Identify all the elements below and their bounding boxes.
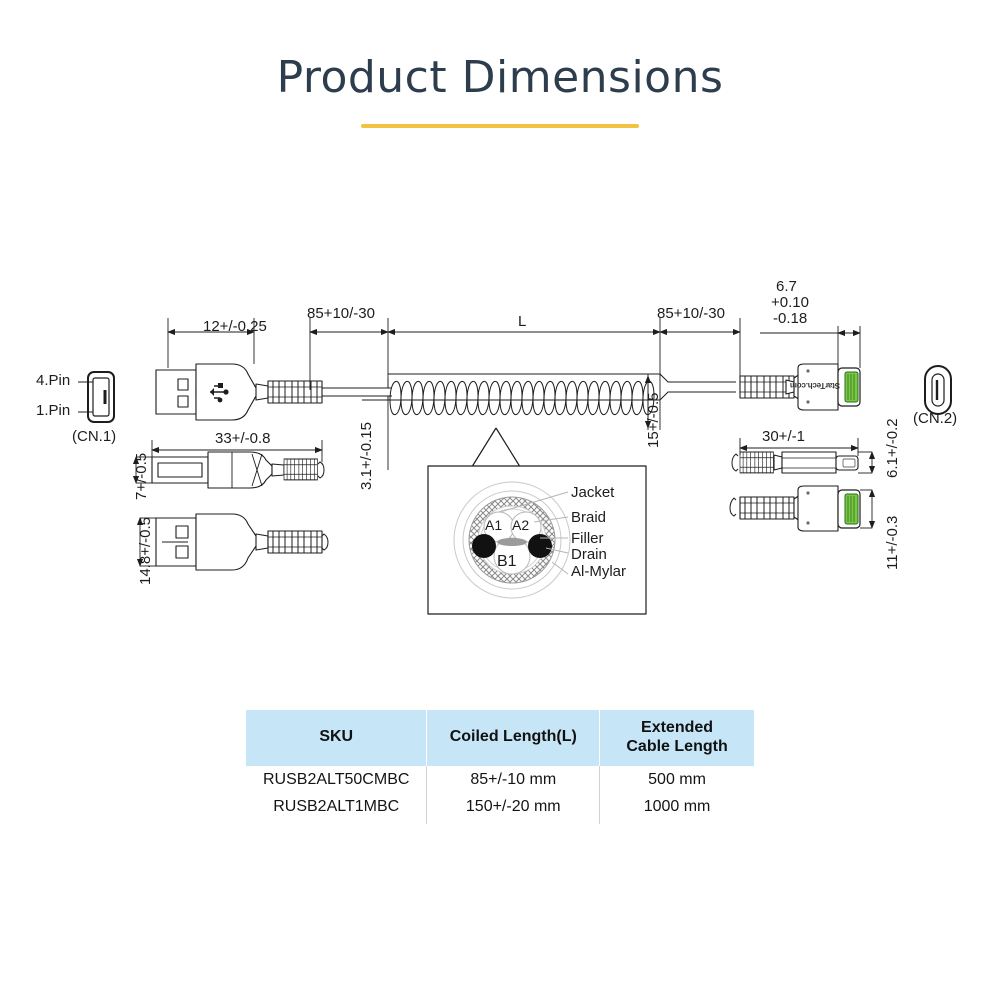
table-header-extended-length: Extended Cable Length [600, 710, 754, 766]
cn2-port-face [925, 366, 951, 414]
table-header-row: SKU Coiled Length(L) Extended Cable Leng… [246, 710, 754, 766]
table-row: RUSB2ALT1MBC 150+/-20 mm 1000 mm [246, 793, 754, 824]
table-header-sku: SKU [246, 710, 427, 766]
label-cn2: (CN.2) [913, 410, 957, 427]
dim-usb-a-top-width: 14.8+/-0.5 [137, 517, 154, 585]
usb-c-side-view [732, 452, 858, 473]
title-underline-rule [361, 124, 639, 128]
dim-usb-a-side-height: 7+/-0.5 [133, 453, 150, 500]
dim-coiled-length-l: L [518, 313, 526, 330]
usb-a-side-view [152, 452, 324, 488]
cs-label-al-mylar: Al-Mylar [571, 563, 626, 580]
dim-coil-diameter: 15+/-0.5 [645, 393, 662, 448]
cell-sku: RUSB2ALT1MBC [246, 793, 427, 824]
startech-brand-label: StarTech.com [800, 381, 840, 390]
label-pin-1: 1.Pin [36, 402, 70, 419]
cell-sku: RUSB2ALT50CMBC [246, 766, 427, 793]
dim-usb-c-top-width: 11+/-0.3 [884, 516, 901, 570]
cs-conductor-b1: B1 [497, 553, 517, 571]
dim-usb-c-tip-tol-minus: -0.18 [773, 310, 807, 327]
cell-extended-length: 1000 mm [600, 793, 754, 824]
label-pin-4: 4.Pin [36, 372, 70, 389]
usb-a-front-view [156, 364, 392, 420]
cs-conductor-a1: A1 [485, 517, 502, 533]
usb-c-top-view [730, 486, 860, 531]
usb-a-top-view [156, 514, 328, 570]
product-dimensions-drawing: Product Dimensions [0, 0, 1000, 1000]
dim-usb-c-tip-width: 6.7 [776, 278, 797, 295]
label-cn1: (CN.1) [72, 428, 116, 445]
technical-drawing-canvas [0, 0, 1000, 1000]
dim-cable-diameter: 3.1+/-0.15 [358, 422, 375, 490]
table-header-coiled-length: Coiled Length(L) [427, 710, 600, 766]
cn1-port-face [78, 372, 114, 422]
dim-usb-a-side-length: 33+/-0.8 [215, 430, 270, 447]
cs-label-filler: Filler [571, 530, 604, 547]
cs-label-drain: Drain [571, 546, 607, 563]
cell-extended-length: 500 mm [600, 766, 754, 793]
coiled-cable [322, 374, 736, 415]
table-header-extended-line1: Extended [604, 719, 750, 738]
dim-usb-c-tip-tol-plus: +0.10 [771, 294, 809, 311]
cs-label-jacket: Jacket [571, 484, 614, 501]
spec-table: SKU Coiled Length(L) Extended Cable Leng… [246, 710, 754, 824]
cell-coiled-length: 150+/-20 mm [427, 793, 600, 824]
cs-label-braid: Braid [571, 509, 606, 526]
dim-usb-a-front-width: 12+/-0.25 [203, 318, 267, 335]
dim-usb-c-side-height: 6.1+/-0.2 [884, 418, 901, 478]
table-row: RUSB2ALT50CMBC 85+/-10 mm 500 mm [246, 766, 754, 793]
dim-straight-left: 85+10/-30 [307, 305, 375, 322]
cs-conductor-a2: A2 [512, 517, 529, 533]
dim-usb-c-side-length: 30+/-1 [762, 428, 805, 445]
table-header-extended-line2: Cable Length [604, 738, 750, 757]
page-title: Product Dimensions [0, 52, 1000, 103]
cross-section-leader [470, 428, 522, 470]
cell-coiled-length: 85+/-10 mm [427, 766, 600, 793]
dim-straight-right: 85+10/-30 [657, 305, 725, 322]
